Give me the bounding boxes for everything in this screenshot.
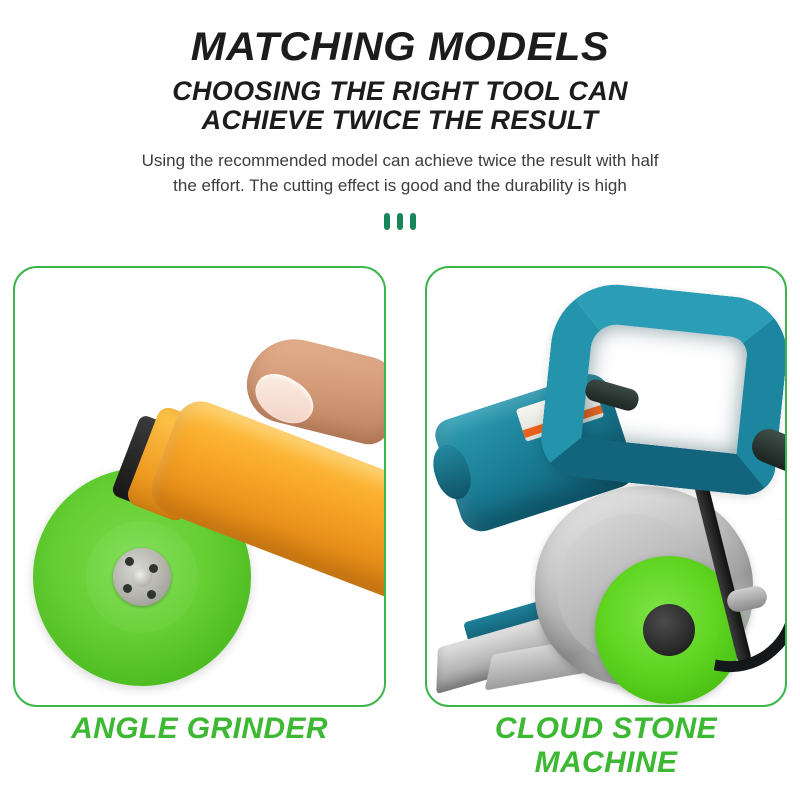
machine-handle [537, 278, 785, 498]
caption-angle-grinder: ANGLE GRINDER [13, 712, 386, 746]
page-subtitle: CHOOSING THE RIGHT TOOL CAN ACHIEVE TWIC… [0, 77, 800, 135]
description-paragraph: Using the recommended model can achieve … [80, 149, 720, 198]
product-card-cloud-stone-machine[interactable] [425, 266, 787, 707]
subtitle-line-2: ACHIEVE TWICE THE RESULT [0, 106, 800, 135]
caption-line-2: MACHINE [425, 746, 787, 780]
grinder-hub-center [132, 567, 152, 587]
description-line-2: the effort. The cutting effect is good a… [80, 174, 720, 199]
machine-disc-hub [643, 604, 695, 656]
product-card-angle-grinder[interactable] [13, 266, 386, 707]
caption-cloud-stone-machine: CLOUD STONE MACHINE [425, 712, 787, 779]
caption-line-1: ANGLE GRINDER [71, 712, 328, 745]
divider-bar-1 [384, 213, 390, 230]
product-card-row [0, 266, 800, 708]
grinder-hub-bolt [125, 557, 134, 566]
subtitle-line-1: CHOOSING THE RIGHT TOOL CAN [172, 76, 628, 106]
angle-grinder-photo [15, 268, 384, 705]
description-line-1: Using the recommended model can achieve … [142, 151, 659, 170]
cloud-stone-machine-photo [427, 268, 785, 705]
caption-line-1: CLOUD STONE [495, 712, 717, 745]
caption-row: ANGLE GRINDER CLOUD STONE MACHINE [0, 712, 800, 800]
grinder-disc-hub [113, 548, 171, 606]
header-block: MATCHING MODELS CHOOSING THE RIGHT TOOL … [0, 0, 800, 230]
divider-bar-3 [410, 213, 416, 230]
grinder-hub-bolt [123, 584, 132, 593]
page-title: MATCHING MODELS [0, 26, 800, 68]
divider-bar-2 [397, 213, 403, 230]
section-divider [377, 213, 423, 230]
grinder-hub-bolt [147, 590, 156, 599]
